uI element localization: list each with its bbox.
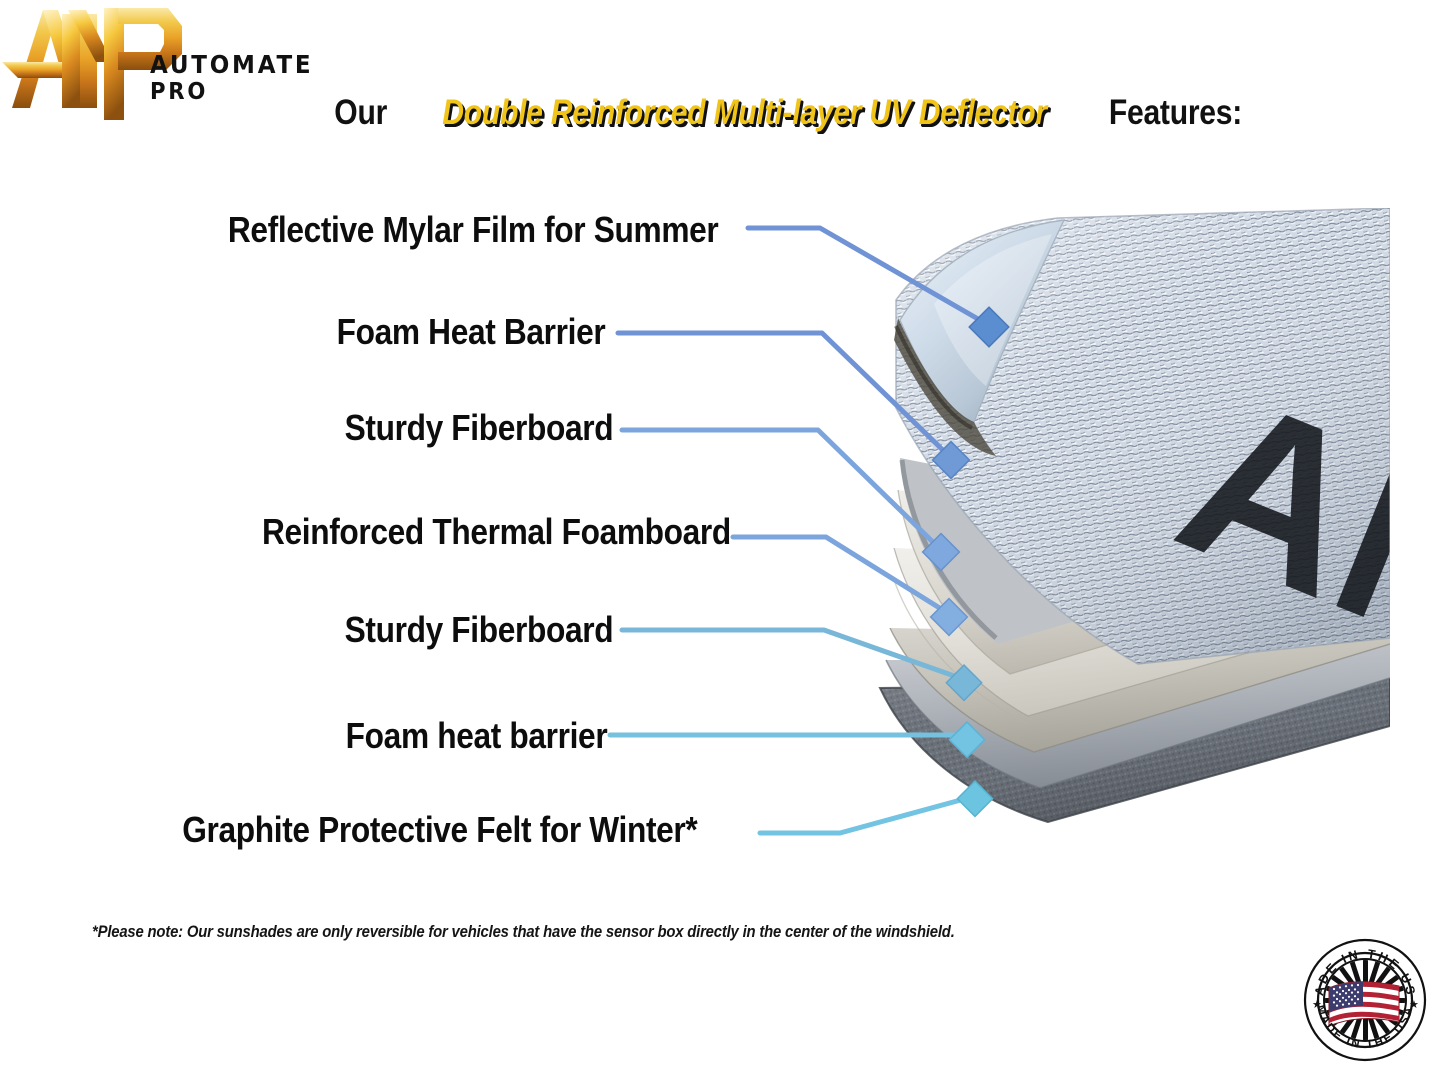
layer-label-graphite-protective-felt: Graphite Protective Felt for Winter* (182, 812, 697, 848)
headline-suffix: Features: (1109, 93, 1242, 133)
layer-label-foam-heat-barrier-bottom: Foam heat barrier (345, 718, 607, 754)
layer-label-sturdy-fiberboard-bottom: Sturdy Fiberboard (344, 612, 613, 648)
layer-label-reinforced-thermal-foamboard: Reinforced Thermal Foamboard (262, 514, 731, 550)
page-headline: Our Double Reinforced Multi-layer UV Def… (330, 93, 1120, 133)
brand-wordmark: AUTOMATE PRO (150, 52, 328, 104)
footnote-text: *Please note: Our sunshades are only rev… (92, 923, 955, 942)
layer-label-reflective-mylar-film: Reflective Mylar Film for Summer (227, 212, 718, 248)
wordmark-pro: PRO (150, 81, 313, 104)
made-in-usa-badge: ★ ★ MADE IN THE USA MADE IN THE USA (1303, 938, 1427, 1062)
brand-logo: AUTOMATE PRO (0, 0, 330, 125)
layered-sunshade-illustration: AM (838, 208, 1390, 848)
product-photo: AM (838, 208, 1390, 848)
headline-prefix: Our (334, 93, 387, 133)
headline-highlight: Double Reinforced Multi-layer UV Deflect… (441, 93, 1049, 133)
wordmark-automate: AUTOMATE (150, 52, 313, 77)
product-infographic-page: AUTOMATE PRO Our Double Reinforced Multi… (0, 0, 1445, 1077)
made-in-the-usa-seal-icon: ★ ★ MADE IN THE USA MADE IN THE USA (1303, 938, 1427, 1062)
layer-label-sturdy-fiberboard-top: Sturdy Fiberboard (344, 410, 613, 446)
layer-label-foam-heat-barrier-top: Foam Heat Barrier (336, 314, 605, 350)
